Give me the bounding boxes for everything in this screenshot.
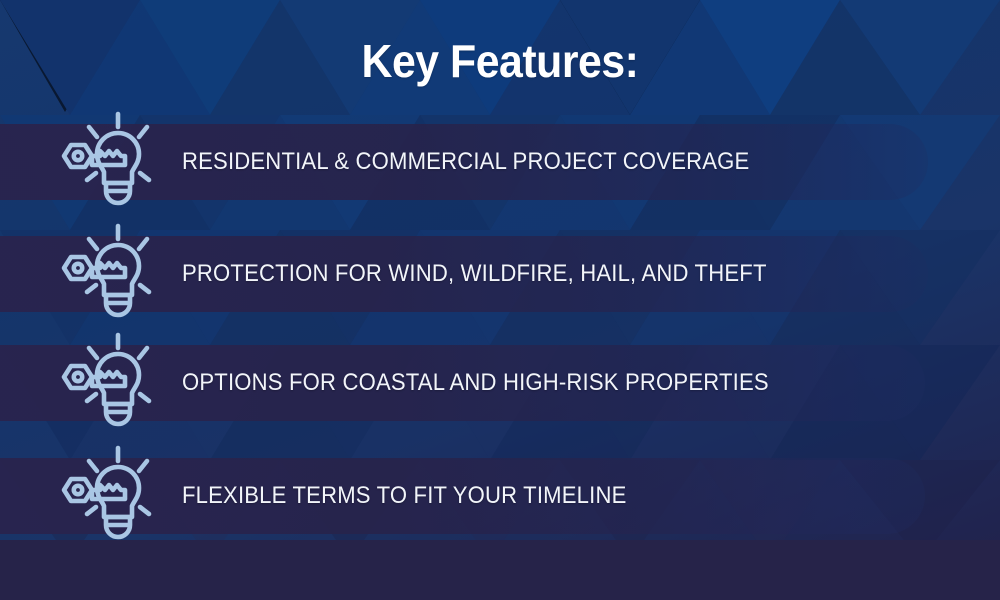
lightbulb-key-icon xyxy=(50,222,170,326)
feature-label: PROTECTION FOR WIND, WILDFIRE, HAIL, AND… xyxy=(182,236,767,312)
lightbulb-key-icon xyxy=(50,110,170,214)
background-bottom-band xyxy=(0,540,1000,600)
lightbulb-key-icon xyxy=(50,444,170,548)
lightbulb-key-icon xyxy=(50,331,170,435)
feature-label: FLEXIBLE TERMS TO FIT YOUR TIMELINE xyxy=(182,458,626,534)
feature-label: OPTIONS FOR COASTAL AND HIGH-RISK PROPER… xyxy=(182,345,769,421)
page-title: Key Features: xyxy=(35,34,965,88)
feature-label: RESIDENTIAL & COMMERCIAL PROJECT COVERAG… xyxy=(182,124,749,200)
